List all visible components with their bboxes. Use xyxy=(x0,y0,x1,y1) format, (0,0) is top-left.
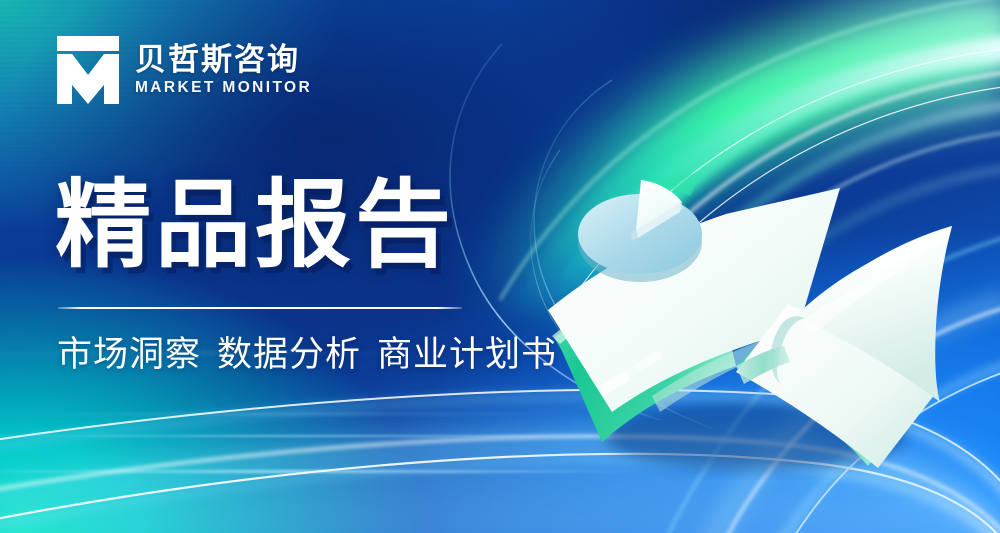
subtitle-item-3: 商业计划书 xyxy=(377,335,557,374)
pie-chart-element xyxy=(578,172,702,282)
market-monitor-m-logo-icon xyxy=(55,34,121,106)
subtitle: 市场洞察数据分析商业计划书 xyxy=(57,333,557,377)
report-banner: 贝哲斯咨询 MARKET MONITOR 精品报告 市场洞察数据分析商业计划书 xyxy=(0,0,1000,533)
brand-name-cn: 贝哲斯咨询 xyxy=(135,44,312,77)
brand-logo[interactable]: 贝哲斯咨询 MARKET MONITOR xyxy=(55,34,312,106)
subtitle-item-2: 数据分析 xyxy=(217,335,361,374)
brand-name-en: MARKET MONITOR xyxy=(135,80,312,96)
title-divider xyxy=(58,307,462,309)
subtitle-item-1: 市场洞察 xyxy=(57,335,201,374)
open-book-with-pie-chart-illustration xyxy=(540,150,960,480)
page-title: 精品报告 xyxy=(55,178,455,274)
